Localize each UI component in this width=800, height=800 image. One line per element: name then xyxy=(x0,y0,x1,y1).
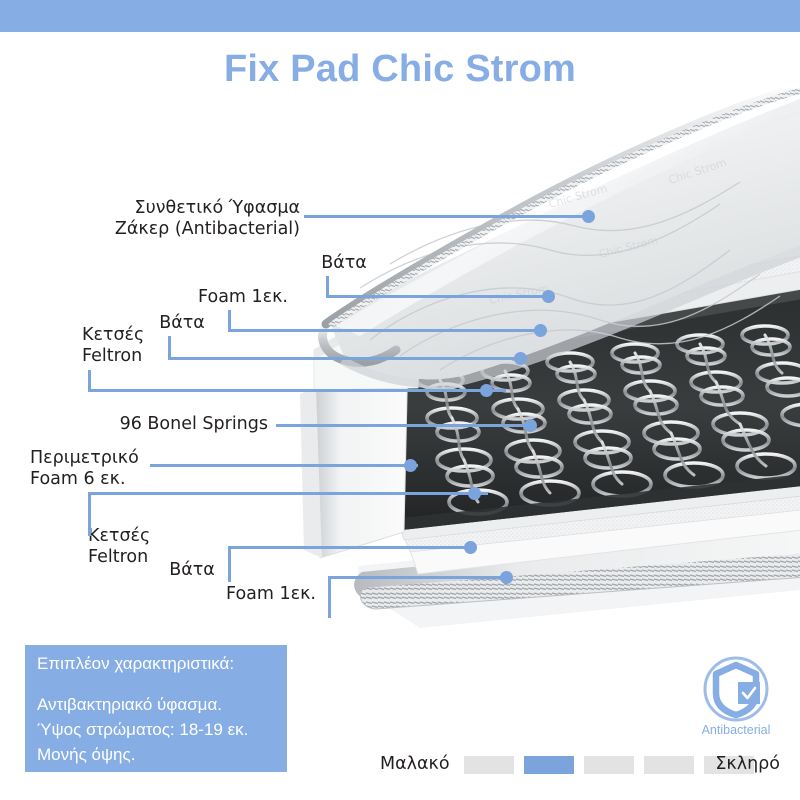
top-accent-bar xyxy=(0,0,800,32)
leader-line-perimeter-foam xyxy=(150,464,418,467)
leader-line-foam-bottom xyxy=(328,576,510,579)
callout-label-bonel-springs: 96 Bonel Springs xyxy=(90,414,268,435)
firmness-scale: Μαλακό Σκληρό xyxy=(380,753,780,777)
leader-line-ketses-top xyxy=(88,389,506,392)
antibacterial-shield-icon xyxy=(686,655,786,725)
features-list: Αντιβακτηριακό ύφασμα. Ύψος στρώματος: 1… xyxy=(37,692,248,767)
leader-dot-vata-bottom xyxy=(464,541,477,554)
leader-dot-foam-bottom xyxy=(500,571,513,584)
leader-dot-bonel-springs xyxy=(524,419,537,432)
feature-item-single-sided: Μονής όψης. xyxy=(37,742,248,767)
leader-elbow-foam-bottom xyxy=(328,576,331,618)
leader-dot-foam-top xyxy=(534,324,547,337)
leader-dot-perimeter-foam xyxy=(404,459,417,472)
leader-line-foam-top xyxy=(228,329,540,332)
firmness-hard-label: Σκληρό xyxy=(715,754,780,774)
callout-label-ketses-feltron-top: Κετσές Feltron xyxy=(82,325,202,367)
leader-line-bonel-springs xyxy=(276,424,528,427)
features-heading: Επιπλέον χαρακτηριστικά: xyxy=(37,654,234,674)
page-title: Fix Pad Chic Strom xyxy=(0,48,800,91)
firmness-segment-1[interactable] xyxy=(464,756,514,774)
antibacterial-badge: Antibacterial xyxy=(686,655,786,743)
firmness-segment-4[interactable] xyxy=(644,756,694,774)
callout-label-vata-top: Βάτα xyxy=(300,253,388,274)
leader-line-ketses-bottom xyxy=(88,492,488,495)
feature-item-height: Ύψος στρώματος: 18-19 εκ. xyxy=(37,717,248,742)
firmness-segment-3[interactable] xyxy=(584,756,634,774)
leader-line-vata-top xyxy=(326,295,548,298)
firmness-soft-label: Μαλακό xyxy=(380,754,450,774)
leader-line-vata-second xyxy=(168,357,520,360)
leader-dot-ketses-bottom xyxy=(468,487,481,500)
leader-dot-vata-second xyxy=(514,352,527,365)
callout-label-perimeter-foam: Περιμετρικό Foam 6 εκ. xyxy=(30,448,190,490)
leader-dot-ketses-top xyxy=(480,384,493,397)
leader-elbow-ketses-bottom xyxy=(88,492,91,536)
callout-label-foam-top: Foam 1εκ. xyxy=(150,287,288,308)
feature-item-antibacterial: Αντιβακτηριακό ύφασμα. xyxy=(37,692,248,717)
antibacterial-caption: Antibacterial xyxy=(686,723,786,737)
features-box: Επιπλέον χαρακτηριστικά: Αντιβακτηριακό … xyxy=(25,645,287,772)
leader-line-vata-bottom xyxy=(228,546,476,549)
callout-label-synthetic-fabric: Συνθετικό Ύφασμα Ζάκερ (Antibacterial) xyxy=(60,198,300,240)
callout-label-vata-bottom: Βάτα xyxy=(148,560,236,581)
leader-dot-vata-top xyxy=(542,290,555,303)
firmness-segment-2[interactable] xyxy=(524,756,574,774)
leader-elbow-vata-bottom xyxy=(228,546,231,582)
leader-line-synthetic-fabric xyxy=(304,215,588,218)
leader-dot-synthetic-fabric xyxy=(582,210,595,223)
infographic-canvas: Fix Pad Chic Strom xyxy=(0,0,800,800)
